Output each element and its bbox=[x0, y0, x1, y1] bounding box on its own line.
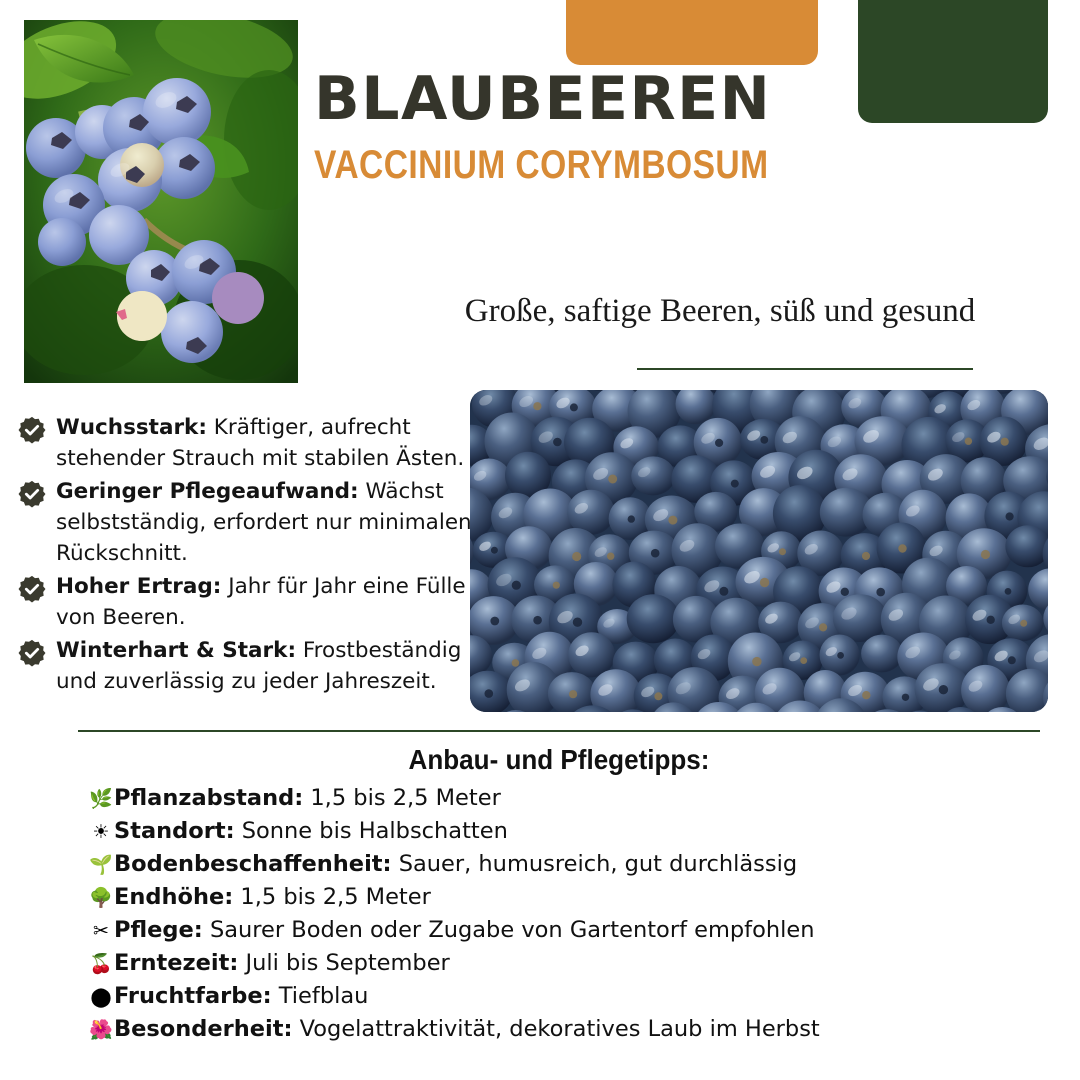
care-value: Sauer, humusreich, gut durchlässig bbox=[392, 851, 798, 877]
blueberry-bush-photo bbox=[24, 20, 298, 383]
decor-block-orange bbox=[566, 0, 818, 65]
care-text: Besonderheit: Vogelattraktivität, dekora… bbox=[114, 1013, 820, 1046]
feature-text: Winterhart & Stark: Frostbeständig und z… bbox=[56, 635, 478, 697]
bush-photo-graphic bbox=[24, 20, 298, 383]
tree-icon: 🌳 bbox=[88, 882, 114, 915]
sun-icon: ☀ bbox=[88, 816, 114, 849]
care-text: Fruchtfarbe: Tiefblau bbox=[114, 980, 368, 1013]
check-badge-icon bbox=[18, 575, 46, 603]
care-text: Standort: Sonne bis Halbschatten bbox=[114, 815, 508, 848]
circle-icon: ⬤ bbox=[88, 981, 114, 1014]
care-value: 1,5 bis 2,5 Meter bbox=[303, 785, 501, 811]
care-item: 🌳 Endhöhe: 1,5 bis 2,5 Meter bbox=[88, 881, 1048, 914]
feature-list: Wuchsstark: Kräftiger, aufrecht stehende… bbox=[18, 412, 478, 699]
care-label: Erntezeit: bbox=[114, 950, 238, 976]
care-value: 1,5 bis 2,5 Meter bbox=[233, 884, 431, 910]
feature-label: Winterhart & Stark: bbox=[56, 638, 296, 663]
care-label: Pflanzabstand: bbox=[114, 785, 303, 811]
hibiscus-icon: 🌺 bbox=[88, 1014, 114, 1047]
care-label: Besonderheit: bbox=[114, 1016, 292, 1042]
feature-label: Hoher Ertrag: bbox=[56, 574, 221, 599]
care-label: Standort: bbox=[114, 818, 235, 844]
care-divider bbox=[78, 730, 1040, 732]
care-value: Tiefblau bbox=[272, 983, 369, 1009]
feature-item: Wuchsstark: Kräftiger, aufrecht stehende… bbox=[18, 412, 478, 474]
care-label: Bodenbeschaffenheit: bbox=[114, 851, 392, 877]
page-title: BLAUBEEREN bbox=[314, 68, 1014, 131]
feature-label: Wuchsstark: bbox=[56, 415, 207, 440]
care-item: 🌺 Besonderheit: Vogelattraktivität, deko… bbox=[88, 1013, 1048, 1046]
scissors-icon: ✂ bbox=[88, 915, 114, 948]
cherries-icon: 🍒 bbox=[88, 948, 114, 981]
care-label: Fruchtfarbe: bbox=[114, 983, 272, 1009]
feature-label: Geringer Pflegeaufwand: bbox=[56, 479, 359, 504]
poster-canvas: BLAUBEEREN VACCINIUM CORYMBOSUM Große, s… bbox=[0, 0, 1080, 1080]
care-label: Pflege: bbox=[114, 917, 203, 943]
care-heading: Anbau- und Pflegetipps: bbox=[112, 744, 1007, 776]
care-text: Bodenbeschaffenheit: Sauer, humusreich, … bbox=[114, 848, 797, 881]
care-list: 🌿 Pflanzabstand: 1,5 bis 2,5 Meter ☀ Sta… bbox=[88, 782, 1048, 1046]
feature-item: Hoher Ertrag: Jahr für Jahr eine Fülle v… bbox=[18, 571, 478, 633]
check-badge-icon bbox=[18, 480, 46, 508]
title-block: BLAUBEEREN VACCINIUM CORYMBOSUM bbox=[314, 68, 1014, 188]
feature-item: Geringer Pflegeaufwand: Wächst selbststä… bbox=[18, 476, 478, 569]
herb-icon: 🌿 bbox=[88, 783, 114, 816]
care-text: Endhöhe: 1,5 bis 2,5 Meter bbox=[114, 881, 431, 914]
feature-text: Wuchsstark: Kräftiger, aufrecht stehende… bbox=[56, 412, 478, 474]
feature-text: Hoher Ertrag: Jahr für Jahr eine Fülle v… bbox=[56, 571, 478, 633]
care-text: Pflege: Saurer Boden oder Zugabe von Gar… bbox=[114, 914, 814, 947]
berries-photo-graphic bbox=[470, 390, 1048, 712]
care-value: Sonne bis Halbschatten bbox=[235, 818, 508, 844]
feature-text: Geringer Pflegeaufwand: Wächst selbststä… bbox=[56, 476, 478, 569]
care-item: 🍒 Erntezeit: Juli bis September bbox=[88, 947, 1048, 980]
care-text: Pflanzabstand: 1,5 bis 2,5 Meter bbox=[114, 782, 501, 815]
care-text: Erntezeit: Juli bis September bbox=[114, 947, 450, 980]
check-badge-icon bbox=[18, 416, 46, 444]
care-item: ⬤ Fruchtfarbe: Tiefblau bbox=[88, 980, 1048, 1013]
care-value: Juli bis September bbox=[238, 950, 449, 976]
care-item: ✂ Pflege: Saurer Boden oder Zugabe von G… bbox=[88, 914, 1048, 947]
tagline-divider bbox=[637, 368, 973, 370]
care-item: ☀ Standort: Sonne bis Halbschatten bbox=[88, 815, 1048, 848]
care-label: Endhöhe: bbox=[114, 884, 233, 910]
tagline: Große, saftige Beeren, süß und gesund bbox=[400, 293, 1040, 330]
care-value: Vogelattraktivität, dekoratives Laub im … bbox=[292, 1016, 819, 1042]
seedling-icon: 🌱 bbox=[88, 849, 114, 882]
care-item: 🌱 Bodenbeschaffenheit: Sauer, humusreich… bbox=[88, 848, 1048, 881]
botanical-name: VACCINIUM CORYMBOSUM bbox=[314, 143, 902, 188]
feature-item: Winterhart & Stark: Frostbeständig und z… bbox=[18, 635, 478, 697]
care-value: Saurer Boden oder Zugabe von Gartentorf … bbox=[203, 917, 815, 943]
check-badge-icon bbox=[18, 639, 46, 667]
care-item: 🌿 Pflanzabstand: 1,5 bis 2,5 Meter bbox=[88, 782, 1048, 815]
harvested-blueberries-photo bbox=[470, 390, 1048, 712]
